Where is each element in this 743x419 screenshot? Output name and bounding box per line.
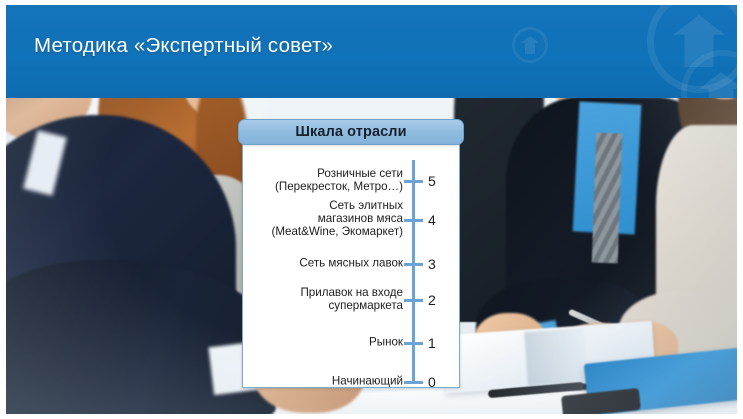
scale-row-label-line: Рынок [245, 335, 403, 348]
scale-tick-value: 0 [428, 374, 436, 390]
scale-tick-value: 2 [428, 292, 436, 308]
scale-row-label-line: (Перекресток, Метро…) [245, 180, 403, 193]
scale-row-label-line: (Meat&Wine, Экомаркет) [245, 226, 403, 239]
scale-tick [404, 299, 423, 302]
scale-row-label-line: Начинающий [245, 374, 403, 387]
scale-tick-value: 5 [428, 173, 436, 189]
scale-tick [404, 180, 423, 183]
scale-tick-value: 3 [428, 256, 436, 272]
scale-row-label-line: Розничные сети [245, 167, 403, 180]
scale-row-label-line: магазинов мяса [245, 212, 403, 225]
scale-row-label: Сеть мясных лавок [245, 256, 403, 269]
scale-tick-value: 4 [428, 212, 436, 228]
scale-tick [404, 263, 423, 266]
scale-row-label-line: Прилавок на входе [245, 286, 403, 299]
scale-axis-line [412, 160, 415, 383]
scale-row-label-line: Сеть элитных [245, 199, 403, 212]
logo-watermark-small-shape [521, 36, 539, 54]
logo-watermark-corner-shape [699, 72, 737, 98]
scale-row-label: Начинающий [245, 374, 403, 387]
scale-rows: Розничные сети(Перекресток, Метро…)Сеть … [240, 0, 403, 419]
scale-row-label-line: Сеть мясных лавок [245, 256, 403, 269]
scale-tick-value: 1 [428, 335, 436, 351]
scale-row-label: Розничные сети(Перекресток, Метро…) [245, 167, 403, 193]
scale-row-label: Рынок [245, 335, 403, 348]
scale-tick [404, 342, 423, 345]
scale-tick [404, 219, 423, 222]
scale-row-label: Сеть элитныхмагазинов мяса(Meat&Wine, Эк… [245, 199, 403, 239]
scale-row-label-line: супермаркета [245, 299, 403, 312]
scale-row-label: Прилавок на входесупермаркета [245, 286, 403, 312]
scale-tick [404, 381, 423, 384]
slide: Методика «Экспертный совет» Шкала отрасл… [0, 0, 743, 419]
